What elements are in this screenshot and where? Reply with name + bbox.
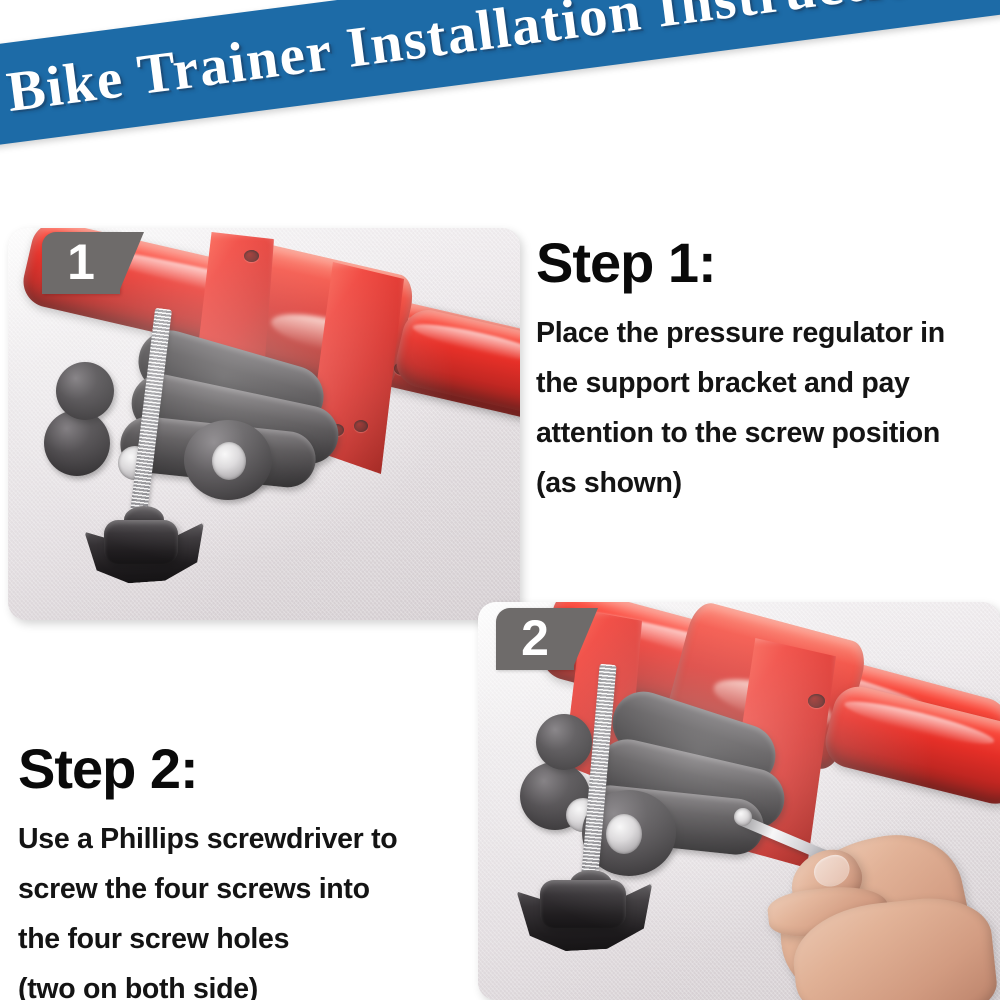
screw-hole (244, 250, 259, 262)
screw-head (734, 808, 752, 826)
step-1-body-line: the support bracket and pay (536, 358, 988, 408)
step-1-body: Place the pressure regulator in the supp… (536, 308, 988, 508)
header-banner: Bike Trainer Installation Instructions (0, 0, 1000, 152)
step-1-body-line: Place the pressure regulator in (536, 308, 988, 358)
step-2-body-line: (two on both side) (18, 964, 458, 1000)
step-1-body-line: (as shown) (536, 458, 988, 508)
step-2-body-line: Use a Phillips screwdriver to (18, 814, 458, 864)
step-2-heading: Step 2: (18, 738, 458, 800)
black-roller-pivot-left2 (56, 362, 114, 420)
black-roller-pivot-left (44, 410, 110, 476)
red-frame-tube-far (391, 305, 520, 421)
black-roller-pivot-left2 (536, 714, 592, 770)
screw-hole (808, 694, 825, 708)
step-1-heading: Step 1: (536, 232, 988, 294)
t-handle-knob-wing (104, 520, 178, 564)
step-2-body-line: the four screw holes (18, 914, 458, 964)
step-2-text-block: Step 2: Use a Phillips screwdriver to sc… (18, 738, 458, 1000)
step-2-badge: 2 (496, 608, 574, 670)
t-handle-knob-wing (540, 880, 626, 928)
roller-hub-right (212, 442, 246, 480)
screw-hole (354, 420, 368, 432)
step-1-text-block: Step 1: Place the pressure regulator in … (536, 232, 988, 508)
instruction-sheet: Bike Trainer Installation Instructions (0, 0, 1000, 1000)
step-2-body-line: screw the four screws into (18, 864, 458, 914)
step-1-badge: 1 (42, 232, 120, 294)
page-title: Bike Trainer Installation Instructions (1, 0, 1000, 143)
step-2-body: Use a Phillips screwdriver to screw the … (18, 814, 458, 1000)
step-1-body-line: attention to the screw position (536, 408, 988, 458)
roller-hub-right (606, 814, 642, 854)
